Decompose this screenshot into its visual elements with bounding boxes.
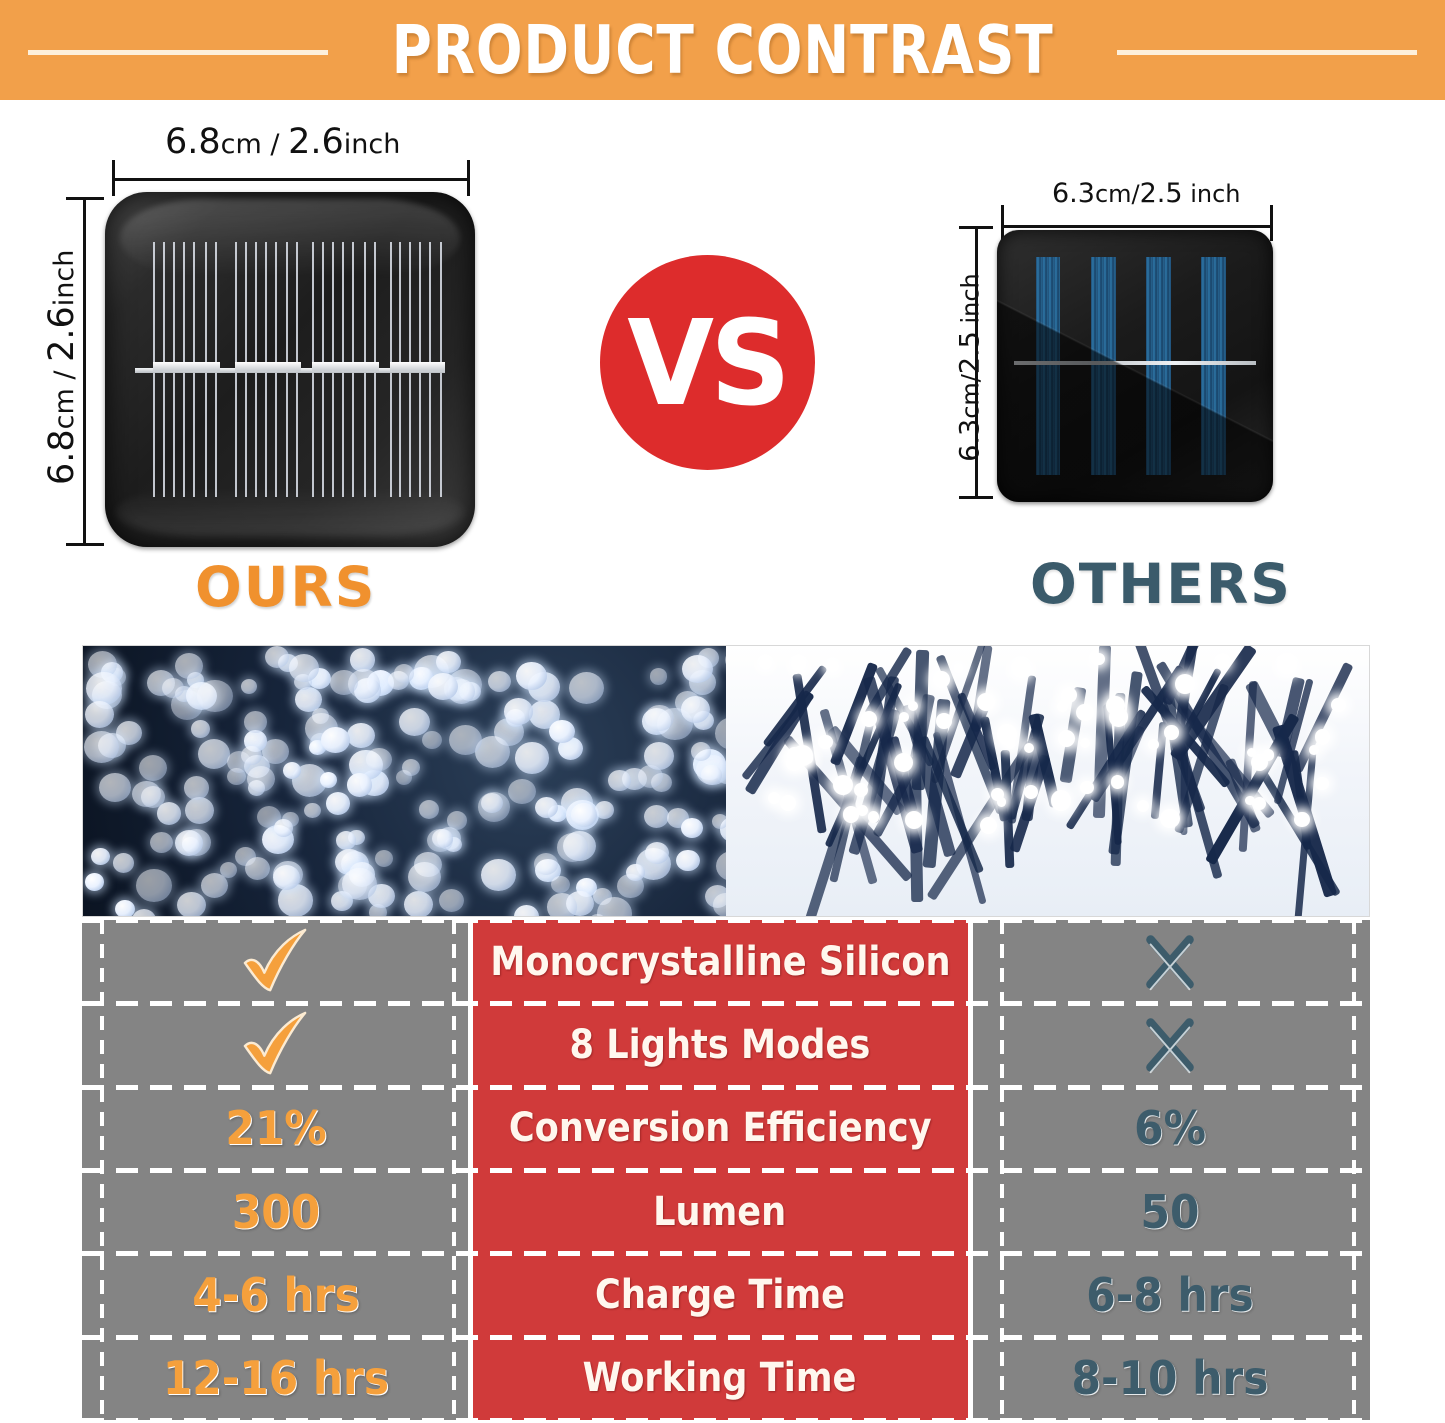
banner-rule-right bbox=[1117, 50, 1417, 55]
ours-value: 12-16 hrs bbox=[163, 1351, 389, 1405]
led-bulb bbox=[1245, 796, 1254, 805]
led-bulb bbox=[116, 721, 142, 745]
led-bulb bbox=[1051, 790, 1072, 811]
led-bulb bbox=[786, 756, 801, 771]
led-bulb bbox=[1109, 707, 1129, 727]
page-title: PRODUCT CONTRAST bbox=[383, 11, 1061, 89]
led-bulb bbox=[198, 739, 231, 769]
others-width-dimension-label: 6.3cm/2.5 inch bbox=[1052, 178, 1241, 209]
led-bulb bbox=[289, 654, 319, 682]
led-bulb bbox=[1092, 653, 1105, 666]
led-bulb bbox=[1278, 657, 1295, 674]
led-bulb bbox=[676, 850, 700, 872]
spec-label: 8 Lights Modes bbox=[570, 1022, 871, 1068]
others-height-tick-top bbox=[959, 226, 993, 229]
led-bulb bbox=[557, 833, 588, 862]
row-divider bbox=[82, 918, 1370, 923]
others-solar-panel bbox=[997, 230, 1273, 502]
row-divider bbox=[82, 1335, 1370, 1340]
led-bulb bbox=[326, 792, 351, 815]
led-bulb bbox=[85, 701, 114, 728]
led-bulb bbox=[515, 742, 549, 773]
ours-brand-label: OURS bbox=[195, 555, 376, 619]
spec-label: Lumen bbox=[653, 1189, 786, 1235]
led-bulb bbox=[1058, 730, 1075, 747]
led-bulb bbox=[402, 759, 420, 776]
ours-width-dimension-label: 6.8cm / 2.6inch bbox=[165, 122, 400, 162]
others-value-cell: 6% bbox=[970, 1087, 1370, 1170]
ours-product-photo bbox=[83, 646, 726, 916]
led-bulb bbox=[157, 802, 181, 824]
row-divider bbox=[82, 1418, 1370, 1423]
led-bulb bbox=[1024, 785, 1038, 799]
ours-value-cell: 300 bbox=[82, 1170, 470, 1253]
led-bulb bbox=[347, 723, 375, 749]
led-bulb bbox=[366, 748, 391, 771]
ours-solar-panel bbox=[105, 192, 475, 547]
led-bulb bbox=[691, 742, 712, 761]
led-bulb bbox=[827, 661, 838, 672]
others-value-cell: 50 bbox=[970, 1170, 1370, 1253]
led-bulb bbox=[283, 762, 301, 779]
led-bulb bbox=[481, 859, 515, 891]
spec-label: Monocrystalline Silicon bbox=[490, 939, 950, 985]
led-bulb bbox=[86, 672, 122, 705]
led-bulb bbox=[447, 811, 468, 830]
led-bulb bbox=[1315, 777, 1328, 790]
led-bulb bbox=[713, 893, 726, 916]
led-bulb bbox=[1080, 738, 1091, 749]
spec-label-cell: Working Time bbox=[470, 1336, 970, 1419]
led-bulb bbox=[1175, 674, 1195, 694]
led-bulb bbox=[115, 900, 135, 916]
row-divider bbox=[82, 1001, 1370, 1006]
led-bulb bbox=[244, 711, 267, 732]
spec-label-cell: Charge Time bbox=[470, 1253, 970, 1336]
led-bulb bbox=[843, 806, 859, 822]
others-width-dim-line bbox=[1001, 225, 1273, 228]
led-bulb bbox=[132, 909, 157, 916]
led-bulb bbox=[626, 864, 644, 881]
led-bulb bbox=[422, 731, 442, 749]
led-bulb bbox=[419, 800, 440, 819]
led-bulb bbox=[514, 905, 539, 916]
led-bulb bbox=[99, 773, 131, 802]
led-bulb bbox=[977, 693, 995, 711]
ours-value: 300 bbox=[232, 1185, 320, 1239]
banner-rule-left bbox=[28, 50, 328, 55]
others-value: 6% bbox=[1134, 1101, 1206, 1155]
led-bulb bbox=[175, 830, 203, 856]
others-value: 6-8 hrs bbox=[1086, 1268, 1253, 1322]
spec-label: Conversion Efficiency bbox=[509, 1105, 932, 1151]
led-bulb bbox=[936, 713, 952, 729]
spec-label: Charge Time bbox=[595, 1272, 845, 1318]
led-bulb bbox=[1294, 812, 1310, 828]
led-bulb bbox=[516, 662, 546, 690]
table-row: 21%Conversion Efficiency6% bbox=[82, 1087, 1370, 1170]
led-bulb bbox=[854, 783, 868, 797]
table-row: Monocrystalline Silicon bbox=[82, 920, 1370, 1003]
led-bulb bbox=[247, 766, 275, 792]
led-bulb bbox=[833, 775, 853, 795]
led-bulb bbox=[818, 735, 832, 749]
led-bulb bbox=[681, 818, 703, 838]
led-bulb bbox=[1217, 657, 1228, 668]
ours-height-dim-line bbox=[83, 198, 86, 546]
led-bulb bbox=[162, 678, 184, 698]
led-bulb bbox=[760, 658, 771, 669]
led-bulb bbox=[1253, 797, 1266, 810]
spec-label-cell: 8 Lights Modes bbox=[470, 1003, 970, 1086]
spec-label-cell: Conversion Efficiency bbox=[470, 1087, 970, 1170]
ours-height-dimension-label: 6.8cm / 2.6inch bbox=[42, 265, 82, 485]
led-bulb bbox=[304, 803, 320, 818]
busbar-node-4 bbox=[390, 362, 446, 371]
spec-label: Working Time bbox=[583, 1355, 857, 1401]
table-row: 300Lumen50 bbox=[82, 1170, 1370, 1253]
others-value-cell: 6-8 hrs bbox=[970, 1253, 1370, 1336]
check-icon bbox=[237, 928, 315, 996]
led-bulb bbox=[1164, 725, 1178, 739]
led-bulb bbox=[547, 893, 577, 916]
table-row: 12-16 hrsWorking Time8-10 hrs bbox=[82, 1336, 1370, 1419]
others-height-dimension-label: 6.3cm/2.5 inch bbox=[955, 268, 986, 468]
led-bulb bbox=[375, 850, 393, 867]
led-bulb bbox=[91, 848, 110, 865]
led-bulb bbox=[701, 765, 722, 785]
led-bulb bbox=[347, 773, 373, 797]
led-bulb bbox=[595, 801, 614, 819]
led-bulb bbox=[792, 658, 805, 671]
ours-value: 4-6 hrs bbox=[192, 1268, 359, 1322]
ours-value-cell bbox=[82, 920, 470, 1003]
led-bulb bbox=[488, 671, 511, 692]
led-bulb bbox=[682, 655, 713, 683]
led-bulb bbox=[139, 755, 167, 781]
spec-comparison-table: Monocrystalline Silicon 8 Lights Modes 2… bbox=[82, 920, 1370, 1420]
led-bulb bbox=[712, 814, 726, 829]
led-bulb bbox=[150, 832, 173, 853]
row-divider bbox=[82, 1168, 1370, 1173]
led-bulb bbox=[1247, 748, 1256, 757]
led-bulb bbox=[191, 720, 210, 737]
led-bulb bbox=[342, 868, 376, 900]
led-bulb bbox=[991, 788, 1004, 801]
led-bulb bbox=[273, 865, 300, 890]
led-bulb bbox=[905, 811, 923, 829]
led-bulb bbox=[681, 696, 711, 723]
led-bulb bbox=[177, 892, 206, 916]
row-divider bbox=[82, 1251, 1370, 1256]
ours-width-tick-right bbox=[467, 160, 470, 196]
led-bulb bbox=[84, 731, 119, 763]
ours-width-tick-left bbox=[112, 160, 115, 196]
led-bulb bbox=[1148, 739, 1159, 750]
spec-label-cell: Monocrystalline Silicon bbox=[470, 920, 970, 1003]
product-photo-strip bbox=[82, 645, 1370, 917]
led-bulb bbox=[350, 648, 376, 672]
check-icon bbox=[237, 1011, 315, 1079]
row-divider bbox=[82, 1085, 1370, 1090]
label-column-border-1 bbox=[968, 920, 973, 1420]
led-bulb bbox=[175, 653, 203, 679]
led-bulb bbox=[780, 795, 796, 811]
others-value: 8-10 hrs bbox=[1072, 1351, 1269, 1405]
others-brand-label: OTHERS bbox=[1030, 552, 1292, 616]
led-bulb bbox=[274, 819, 293, 836]
led-bulb bbox=[954, 664, 964, 674]
led-bulb bbox=[571, 803, 597, 827]
led-bulb bbox=[404, 891, 433, 916]
panel-comparison-section: 6.8cm / 2.6inch 6.8cm / 2.6inch bbox=[0, 100, 1445, 630]
led-bulb bbox=[715, 717, 726, 750]
led-bulb bbox=[1137, 800, 1149, 812]
led-bulb bbox=[650, 668, 668, 684]
others-panel-shadow-overlay bbox=[997, 230, 1273, 502]
led-bulb bbox=[551, 876, 570, 893]
vs-badge: VS bbox=[600, 255, 815, 470]
led-bulb bbox=[508, 779, 536, 805]
led-bulb bbox=[1331, 698, 1345, 712]
led-bulb bbox=[1160, 809, 1180, 829]
led-bulb bbox=[1076, 704, 1093, 721]
led-bulb bbox=[320, 772, 337, 788]
led-bulb bbox=[1012, 660, 1030, 678]
others-value-cell bbox=[970, 920, 1370, 1003]
ours-value-cell: 12-16 hrs bbox=[82, 1336, 470, 1419]
led-bulb bbox=[894, 753, 913, 772]
ours-value-cell: 21% bbox=[82, 1087, 470, 1170]
vs-label: VS bbox=[628, 304, 788, 422]
led-bulb bbox=[1315, 729, 1331, 745]
led-bulb bbox=[113, 853, 135, 873]
ours-value-cell: 4-6 hrs bbox=[82, 1253, 470, 1336]
led-bulb bbox=[336, 831, 356, 850]
led-bulb bbox=[1309, 745, 1319, 755]
led-bulb bbox=[899, 712, 909, 722]
led-bulb bbox=[185, 797, 214, 824]
busbar-node-3 bbox=[312, 362, 379, 371]
cross-icon bbox=[1131, 1011, 1209, 1079]
led-bulb bbox=[241, 679, 257, 694]
led-bulb bbox=[504, 698, 533, 724]
led-bulb bbox=[408, 862, 441, 892]
led-bulb bbox=[136, 869, 171, 902]
cross-icon bbox=[1131, 928, 1209, 996]
table-row: 8 Lights Modes bbox=[82, 1003, 1370, 1086]
led-bulb bbox=[644, 805, 669, 828]
others-product-photo bbox=[726, 646, 1369, 916]
led-bulb bbox=[197, 680, 232, 713]
led-bulb bbox=[644, 742, 674, 770]
ours-value: 21% bbox=[225, 1101, 326, 1155]
others-value: 50 bbox=[1141, 1185, 1200, 1239]
led-bulb bbox=[245, 857, 270, 880]
led-bulb bbox=[85, 873, 104, 891]
busbar-node-1 bbox=[153, 362, 220, 371]
led-bulb bbox=[768, 792, 780, 804]
others-value-cell bbox=[970, 1003, 1370, 1086]
ours-width-dim-line bbox=[112, 178, 470, 181]
table-row: 4-6 hrsCharge Time6-8 hrs bbox=[82, 1253, 1370, 1336]
ours-height-tick-top bbox=[66, 197, 104, 200]
led-bulb bbox=[1263, 749, 1274, 760]
led-bulb bbox=[184, 776, 209, 799]
led-bulb bbox=[608, 770, 630, 790]
header-banner: PRODUCT CONTRAST bbox=[0, 0, 1445, 100]
ours-value-cell bbox=[82, 1003, 470, 1086]
led-bulb bbox=[432, 829, 453, 848]
led-bulb bbox=[868, 811, 879, 822]
label-column-border-0 bbox=[468, 920, 473, 1420]
led-bulb bbox=[645, 842, 669, 864]
spec-label-cell: Lumen bbox=[470, 1170, 970, 1253]
busbar-node-2 bbox=[235, 362, 302, 371]
led-bulb bbox=[980, 817, 997, 834]
others-height-tick-bottom bbox=[959, 496, 993, 499]
ours-height-tick-bottom bbox=[66, 543, 104, 546]
led-bulb bbox=[201, 873, 228, 898]
led-bulb bbox=[321, 727, 350, 753]
led-bulb bbox=[569, 672, 604, 704]
others-value-cell: 8-10 hrs bbox=[970, 1336, 1370, 1419]
led-bulb bbox=[428, 673, 458, 701]
led-bulb bbox=[481, 793, 503, 813]
led-bulb bbox=[645, 705, 674, 732]
led-bulb bbox=[549, 720, 575, 743]
led-bulb bbox=[439, 889, 464, 912]
led-bulb bbox=[716, 851, 726, 881]
